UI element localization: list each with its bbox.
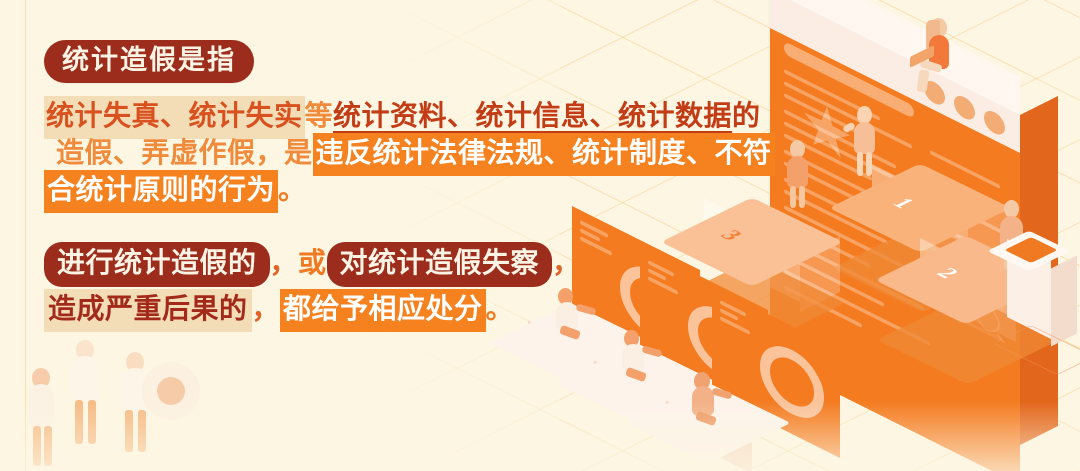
paragraph-definition: 统计失真、统计失实等统计资料、统计信息、统计数据的 造假、弄虚作假，是违反统计法…: [44, 103, 775, 214]
page-title: 统计造假是指: [44, 40, 254, 83]
window-dot-2: [954, 92, 975, 124]
text-run: ，: [552, 248, 581, 279]
text-content: 统计造假是指 统计失真、统计失实等统计资料、统计信息、统计数据的 造假、弄虚作假…: [0, 0, 730, 471]
highlight-run: 统计失真、统计失实: [44, 96, 305, 139]
highlight-run: 合统计原则的行为: [44, 170, 278, 213]
highlight-run: 造成严重后果的: [44, 289, 252, 332]
text-run: ，: [270, 248, 299, 279]
text-line: 统计失真、统计失实等统计资料、统计信息、统计数据的: [44, 103, 775, 131]
highlight-run: 都给予相应处分: [280, 289, 486, 332]
text-run: 。: [486, 294, 515, 325]
underline-run: 统计资料、统计信息、统计数据: [333, 101, 732, 132]
text-run: 造假、弄虚作假，是: [56, 138, 313, 169]
text-line: 造假、弄虚作假，是违反统计法律法规、统计制度、不符: [44, 140, 775, 168]
text-run: ，: [252, 294, 281, 325]
text-run: 。: [278, 175, 307, 206]
text-run: 等: [305, 101, 334, 132]
text-run: 的: [732, 101, 761, 132]
paragraph-penalty: 进行统计造假的，或对统计造假失察， 造成严重后果的，都给予相应处分。: [44, 250, 581, 333]
text-line: 合统计原则的行为。: [44, 177, 775, 205]
poster-canvas: 1 3 2: [0, 0, 1080, 471]
highlight-run: 违反统计法律法规、统计制度、不符: [313, 133, 775, 176]
text-run: 或: [298, 248, 327, 279]
badge-run: 进行统计造假的: [44, 242, 270, 287]
badge-run: 对统计造假失察: [327, 242, 553, 287]
window-dot-3: [984, 107, 1005, 139]
text-line: 进行统计造假的，或对统计造假失察，: [44, 250, 581, 278]
text-line: 造成严重后果的，都给予相应处分。: [44, 296, 581, 324]
